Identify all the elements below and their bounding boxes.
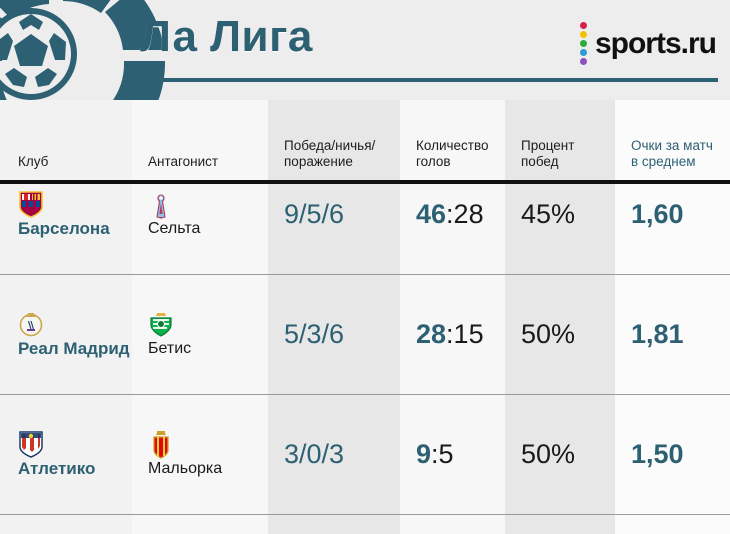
win-pct-value: 50% [505,439,615,470]
row-divider [0,364,730,424]
page-title: Ла Лига [140,12,313,62]
header-divider [140,78,718,82]
cell-club: Барселона [0,184,132,244]
table-row[interactable]: Реал МадридБетис5/3/628:1550%1,81 [0,304,730,364]
antagonist-name: Бетис [148,340,191,357]
cell-win-pct: 50% [505,424,615,484]
barcelona-badge-icon [18,190,44,218]
cell-goals: 9:5 [400,424,505,484]
win-pct-value: 45% [505,199,615,230]
cell-goals: 46:28 [400,184,505,244]
club-name: Барселона [18,219,110,238]
goals-value: 46:28 [400,199,505,230]
atletico-badge-icon [18,430,44,458]
cell-ppg: 1,50 [615,424,730,484]
goals-value: 9:5 [400,439,505,470]
wdl-value: 9/5/6 [268,199,400,230]
column-header-club: Клуб [0,154,132,170]
cell-wdl: 9/5/6 [268,184,400,244]
celta-badge-icon [148,191,174,219]
cell-wdl: 5/3/6 [268,304,400,364]
table-body: БарселонаСельта9/5/646:2845%1,60Реал Мад… [0,184,730,534]
column-header-goals: Количество голов [400,138,505,170]
club-name: Реал Мадрид [18,339,130,358]
table-row[interactable]: АтлетикоМальорка3/0/39:550%1,50 [0,424,730,484]
cell-antagonist: Сельта [132,184,268,244]
sports-ru-logo[interactable]: sports.ru [580,22,716,65]
cell-wdl: 3/0/3 [268,424,400,484]
table-row[interactable]: БарселонаСельта9/5/646:2845%1,60 [0,184,730,244]
cell-goals: 28:15 [400,304,505,364]
ppg-value: 1,81 [615,319,730,350]
wdl-value: 3/0/3 [268,439,400,470]
cell-antagonist: Бетис [132,304,268,364]
wdl-value: 5/3/6 [268,319,400,350]
antagonist-name: Сельта [148,220,200,237]
ppg-value: 1,60 [615,199,730,230]
real-madrid-badge-icon [18,310,44,338]
cell-club: Атлетико [0,424,132,484]
column-header-antagonist: Антагонист [132,154,268,170]
column-header-wdl: Победа/ничья/ поражение [268,138,400,170]
cell-club: Реал Мадрид [0,304,132,364]
sports-ru-dots-icon [580,22,587,65]
cell-ppg: 1,60 [615,184,730,244]
antagonist-name: Мальорка [148,460,222,477]
infographic-page: Ла Лига sports.ru Статистика с сезона-20… [0,0,730,534]
mallorca-badge-icon [148,431,174,459]
ppg-value: 1,50 [615,439,730,470]
cell-antagonist: Мальорка [132,424,268,484]
table-head: Клуб Антагонист Победа/ничья/ поражение … [0,100,730,184]
betis-badge-icon [148,311,174,339]
stats-table: Клуб Антагонист Победа/ничья/ поражение … [0,100,730,534]
row-divider [0,484,730,534]
cell-ppg: 1,81 [615,304,730,364]
club-name: Атлетико [18,459,95,478]
goals-value: 28:15 [400,319,505,350]
stats-table-wrapper: Клуб Антагонист Победа/ничья/ поражение … [0,100,730,534]
row-divider [0,244,730,304]
win-pct-value: 50% [505,319,615,350]
column-header-win-pct: Процент побед [505,138,615,170]
cell-win-pct: 50% [505,304,615,364]
sports-ru-wordmark: sports.ru [595,27,716,61]
column-header-ppg: Очки за матч в среднем [615,138,730,170]
cell-win-pct: 45% [505,184,615,244]
